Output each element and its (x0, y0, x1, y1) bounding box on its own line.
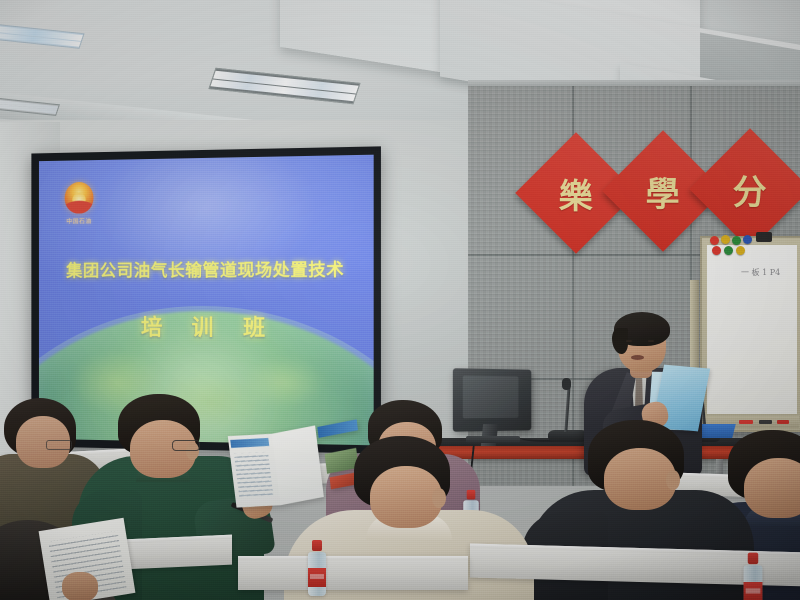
magnet-icon (712, 246, 721, 255)
banner-character: 分 (733, 165, 767, 214)
marker-icon (759, 420, 772, 424)
banner-character: 學 (646, 167, 680, 216)
banner-character: 樂 (559, 169, 593, 218)
ceiling-light-icon (0, 23, 85, 49)
attendee-hand (62, 572, 98, 600)
eyeglasses-icon (46, 440, 72, 450)
attendee-ear (666, 470, 680, 490)
marker-icon (777, 420, 789, 424)
magnet-icon (736, 246, 745, 255)
magnet-icon (743, 235, 752, 244)
water-bottle (744, 553, 763, 600)
attendee-head (744, 458, 800, 518)
sun-emblem-icon (65, 182, 94, 214)
magnet-icon (721, 235, 730, 244)
magnet-icon (710, 236, 719, 245)
cnpc-logo-caption: 中国石油 (60, 216, 98, 225)
attendee-desk (238, 556, 468, 590)
attendee-ear (432, 488, 446, 508)
training-room-photo: 樂 學 分 一 板 1 P4 (0, 0, 800, 600)
cnpc-logo: 中国石油 (60, 182, 98, 226)
water-bottle (308, 540, 326, 596)
microphone-icon (562, 378, 571, 390)
presenter-hair (614, 312, 670, 346)
whiteboard-clip-icon (756, 232, 772, 242)
eyeglasses-icon (172, 440, 200, 451)
magnet-icon (724, 246, 733, 255)
magnet-icon (732, 236, 741, 245)
presenter-eye (626, 340, 632, 342)
presenter-eye (648, 340, 654, 342)
slide-title-line1: 集团公司油气长输管道现场处置技术 (39, 255, 374, 281)
presenter-mouth (631, 355, 644, 360)
slide-title-line2: 培 训 班 (39, 310, 374, 343)
whiteboard-writing: 一 板 1 P4 (741, 267, 795, 279)
ceiling-light-icon (208, 68, 360, 104)
